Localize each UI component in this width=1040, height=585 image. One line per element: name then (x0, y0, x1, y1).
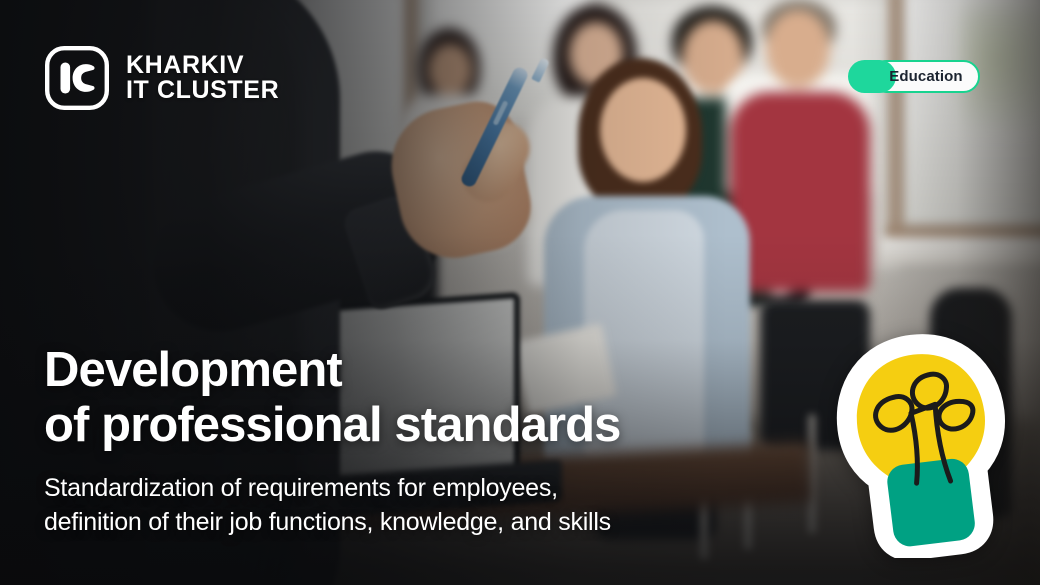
subhead-line-1: Standardization of requirements for empl… (44, 471, 804, 505)
copy-block: Development of professional standards St… (44, 343, 804, 539)
badge-label: Education (889, 68, 962, 85)
kharkiv-it-cluster-mark-icon (44, 45, 110, 111)
headline-line-1: Development (44, 343, 804, 398)
brand-wordmark: KHARKIV IT CLUSTER (126, 53, 279, 103)
subhead-line-2: definition of their job functions, knowl… (44, 505, 804, 539)
promo-banner: KHARKIV IT CLUSTER Education Development… (0, 0, 1040, 585)
page-subtitle: Standardization of requirements for empl… (44, 471, 804, 539)
headline-line-2: of professional standards (44, 398, 804, 453)
brand-line-1: KHARKIV (126, 53, 279, 78)
page-title: Development of professional standards (44, 343, 804, 454)
lightbulb-icon (836, 332, 1012, 558)
brand-line-2: IT CLUSTER (126, 78, 279, 103)
category-badge[interactable]: Education (848, 60, 980, 93)
brand-logo[interactable]: KHARKIV IT CLUSTER (44, 45, 279, 111)
